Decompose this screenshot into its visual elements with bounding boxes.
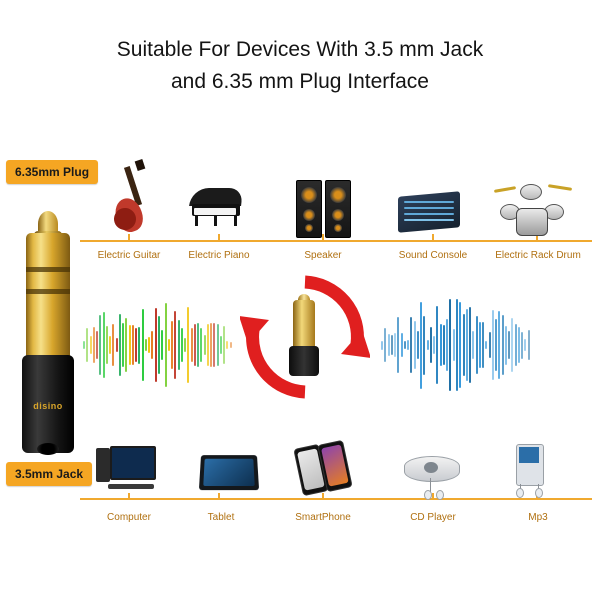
caption-electric-piano: Electric Piano [178,250,260,261]
caption-smartphone: SmartPhone [282,512,364,523]
bottom-tick-1 [128,493,130,500]
desktop-computer-icon [96,440,160,494]
drum-kit-icon [492,178,574,238]
waveform-right [380,290,530,400]
grand-piano-icon [190,182,246,238]
connector-ring-1 [26,267,70,272]
caption-mp3: Mp3 [492,512,584,523]
caption-speaker: Speaker [282,250,364,261]
page-title-line1: Suitable For Devices With 3.5 mm Jack [0,34,600,66]
badge-635mm-plug: 6.35mm Plug [6,160,98,184]
mp3-player-icon [504,438,562,496]
caption-sound-console: Sound Console [392,250,474,261]
page-title: Suitable For Devices With 3.5 mm Jack an… [0,34,600,98]
top-divider-line [80,240,592,242]
caption-computer: Computer [88,512,170,523]
connector-gold-barrel [26,233,70,363]
electric-guitar-icon [108,168,154,238]
badge-35mm-jack: 3.5mm Jack [6,462,92,486]
product-connector-635mm: disino [18,205,78,455]
bottom-divider-line [80,498,592,500]
waveform-left [82,290,232,400]
mixing-console-icon [398,188,466,238]
speaker-pair-icon [294,176,352,238]
tablet-icon [196,444,266,496]
connector-socket-hole [37,443,59,455]
brand-label: disino [18,401,78,411]
smartphone-icon [292,438,362,496]
page-title-line2: and 6.35 mm Plug Interface [0,66,600,98]
caption-tablet: Tablet [180,512,262,523]
caption-electric-guitar: Electric Guitar [88,250,170,261]
caption-cd-player: CD Player [392,512,474,523]
caption-electric-rack-drum: Electric Rack Drum [488,250,588,261]
poster-canvas: Suitable For Devices With 3.5 mm Jack an… [0,0,600,600]
35mm-adapter-icon [283,300,327,376]
cd-player-icon [400,442,466,496]
connector-ring-2 [26,289,70,294]
